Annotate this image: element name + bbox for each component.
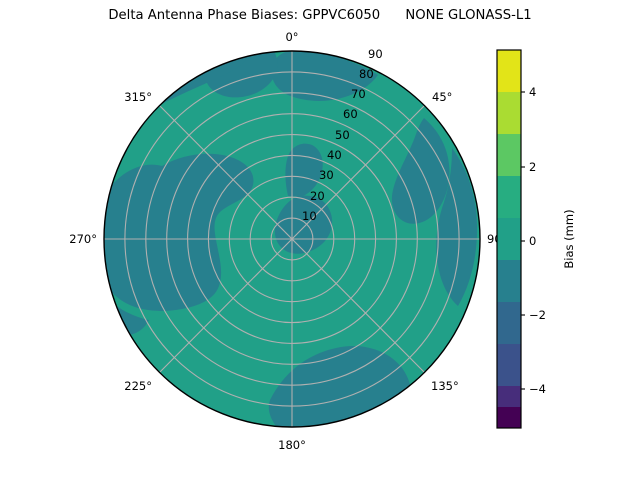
grid-circle-70 <box>146 93 438 385</box>
cbar-label-4: 4 <box>529 85 536 99</box>
colorbar-ticks <box>521 92 525 389</box>
grid-circle-80 <box>125 72 459 406</box>
colorbar[interactable]: 4 2 0 −2 −4 Bias (mm) <box>497 50 576 428</box>
angular-tick-labels: 0° 45° 90 135° 180° 225° 270° 315° <box>69 30 501 452</box>
cbar-label-0: 0 <box>529 234 536 248</box>
radial-tick-labels: 10 20 30 40 50 60 70 80 90 <box>302 47 383 223</box>
r-tick-30: 30 <box>319 168 334 182</box>
colorbar-gradient <box>497 50 521 428</box>
theta-tick-270: 270° <box>69 232 97 246</box>
cbar-band-3 <box>497 260 521 302</box>
grid-circle-40 <box>208 155 375 322</box>
grid-circle-30 <box>229 176 354 301</box>
polar-contour-fill <box>93 51 480 452</box>
polar-outer-spine <box>104 51 480 427</box>
cbar-band-5 <box>497 176 521 218</box>
r-tick-70: 70 <box>351 87 366 101</box>
grid-spoke-45-225 <box>159 105 425 373</box>
r-tick-50: 50 <box>335 128 350 142</box>
contour-arc-top <box>150 51 252 106</box>
r-tick-40: 40 <box>327 148 342 162</box>
cbar-band-1b <box>497 344 521 386</box>
contour-lobe-center-neck <box>285 144 322 197</box>
grid-spoke-315-135 <box>159 105 425 373</box>
theta-tick-315: 315° <box>124 90 152 104</box>
grid-circle-60 <box>167 114 418 365</box>
theta-tick-180: 180° <box>278 438 306 452</box>
theta-tick-0: 0° <box>285 30 298 44</box>
contour-lobe-west <box>93 154 253 311</box>
r-tick-10: 10 <box>302 209 317 223</box>
contour-notch-east <box>392 118 450 224</box>
cbar-label-neg2: −2 <box>529 308 546 322</box>
grid-circle-50 <box>188 135 397 344</box>
cbar-band-4 <box>497 218 521 260</box>
contour-arc-north <box>272 51 378 101</box>
polar-grid <box>104 51 480 427</box>
theta-tick-135: 135° <box>431 379 459 393</box>
colorbar-tick-labels: 4 2 0 −2 −4 <box>529 85 546 396</box>
theta-tick-45: 45° <box>432 90 452 104</box>
theta-tick-90: 90 <box>487 232 502 246</box>
r-tick-20: 20 <box>310 189 325 203</box>
contour-band-0-to-1 <box>104 51 480 427</box>
theta-tick-225: 225° <box>124 379 152 393</box>
contour-lobe-center <box>275 196 332 254</box>
contour-lobe-southeast <box>269 346 411 452</box>
cbar-band-1 <box>497 386 521 407</box>
grid-circle-10 <box>271 218 313 260</box>
contour-arc-northwest <box>205 51 278 97</box>
cbar-band-2 <box>497 302 521 344</box>
figure-svg: 0° 45° 90 135° 180° 225° 270° 315° 10 20… <box>0 0 640 480</box>
cbar-label-neg4: −4 <box>529 382 546 396</box>
cbar-band-8 <box>497 50 521 92</box>
page-title: Delta Antenna Phase Biases: GPPVC6050 NO… <box>0 8 640 23</box>
colorbar-outline <box>497 50 521 428</box>
r-tick-60: 60 <box>343 107 358 121</box>
cbar-band-0 <box>497 407 521 428</box>
polar-plot-area: 0° 45° 90 135° 180° 225° 270° 315° 10 20… <box>0 0 640 480</box>
grid-circle-20 <box>250 197 334 281</box>
colorbar-title: Bias (mm) <box>562 209 576 268</box>
contour-sliver-southwest <box>97 299 149 336</box>
contour-band-neg1-to-0 <box>93 51 477 452</box>
cbar-label-2: 2 <box>529 160 536 174</box>
r-tick-80: 80 <box>359 67 374 81</box>
cbar-band-7 <box>497 92 521 134</box>
contour-arc-east <box>436 148 477 306</box>
r-tick-90: 90 <box>368 47 383 61</box>
cbar-band-6 <box>497 134 521 176</box>
matplotlib-figure: Delta Antenna Phase Biases: GPPVC6050 NO… <box>0 0 640 480</box>
